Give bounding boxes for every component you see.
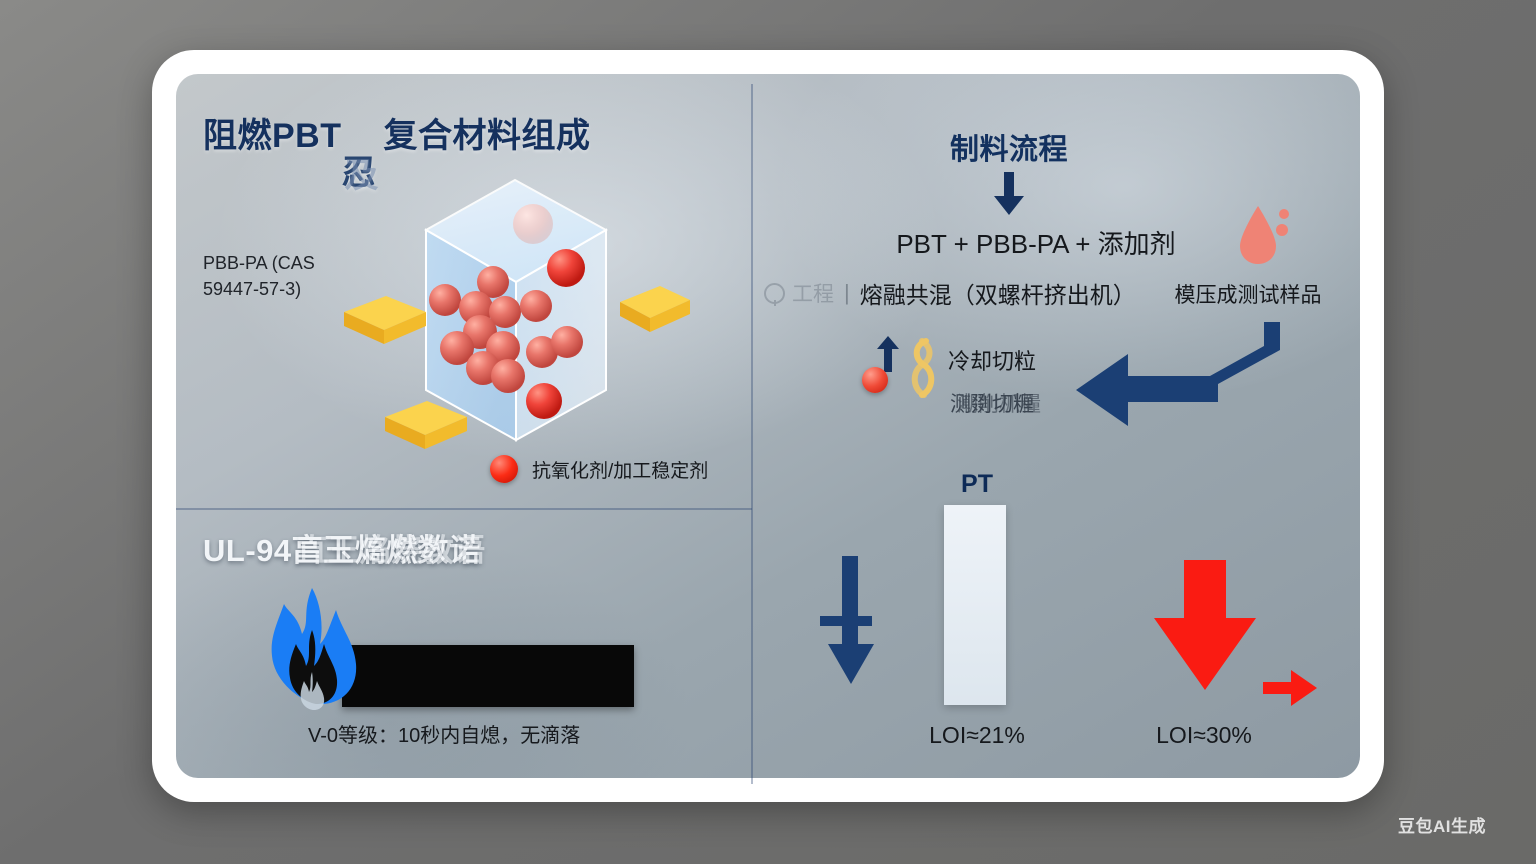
separator-glyph: | [844, 280, 850, 306]
helix-icon [908, 337, 938, 403]
ai-watermark: 豆包AI生成 [1398, 812, 1486, 837]
blue-flame-icon [250, 586, 380, 714]
ul94-title-prefix: UL-94 [203, 533, 292, 568]
cooling-glitch-layer-b: 潮削枛糧 [957, 388, 1041, 418]
infographic-canvas: 阻燃PBT忍及复合材料组成 PBB-PA (CAS 59447-57-3) [0, 0, 1536, 864]
droplet-dot-upper [1279, 209, 1289, 219]
right-panel-title: 制料流程 [950, 126, 1068, 168]
red-pellet-icon [862, 367, 888, 393]
vertical-divider [751, 84, 753, 784]
title-prefix-text: 阻燃PBT [203, 117, 342, 155]
cube-svg [330, 172, 690, 502]
magnifier-icon [764, 283, 785, 304]
navy-arrow-crossbar [820, 616, 872, 626]
ul94-glitch-layer-b: 直王焰烧教语 [297, 525, 486, 570]
droplet-icon [1232, 202, 1294, 273]
composite-cube-illustration [330, 172, 690, 502]
red-sphere-icon [490, 455, 518, 483]
melt-step-label: 熔融共混（双螺杆挤出机） [860, 276, 1136, 310]
cooling-step-glitch-label: 测剟切糎 潮削枛糧 [950, 388, 1034, 418]
ul94-title-glitch: 亯玉熇燃数诺直王焰烧教语 [292, 525, 481, 570]
horizontal-divider [176, 508, 752, 510]
loi-after-label: LOI≈30% [1156, 722, 1252, 749]
yellow-plate-right [620, 286, 690, 332]
navy-down-arrow-icon [820, 556, 882, 691]
formula-text: PBT + PBB-PA + 添加剂 [896, 224, 1175, 261]
flame-test-illustration [240, 586, 660, 714]
ghost-prefix-text: 工程 [792, 278, 834, 308]
antioxidant-legend: 抗氧化剂/加工稳定剂 [490, 455, 708, 483]
title-suffix-text: 复合材料组成 [384, 117, 591, 155]
mold-step-label: 模压成测试样品 [1175, 279, 1322, 309]
cooling-step-label: 冷却切粒 [948, 344, 1036, 376]
v0-rating-caption: V-0等级：10秒内自熄，无滴落 [308, 719, 580, 748]
outer-red-sphere-top [547, 249, 585, 287]
ghost-watermark-prefix: 工程 [764, 278, 834, 308]
pt-bar-label: PT [961, 470, 993, 499]
pale-sphere [513, 204, 553, 244]
red-right-arrow-icon [1263, 668, 1319, 713]
left-panel-title: 阻燃PBT忍及复合材料组成 [203, 108, 591, 157]
black-specimen-bar [342, 645, 634, 707]
yellow-plate-left-upper [344, 296, 426, 344]
outer-red-sphere-bottom [526, 383, 562, 419]
antioxidant-legend-label: 抗氧化剂/加工稳定剂 [532, 456, 708, 483]
loi-before-label: LOI≈21% [929, 722, 1025, 749]
droplet-dot-lower [1276, 224, 1288, 236]
melt-blend-step: 工程 | 熔融共混（双螺杆挤出机） [764, 276, 1136, 310]
arrow-down-icon [992, 172, 1026, 221]
red-down-arrow-icon [1152, 560, 1258, 697]
yellow-plate-left-lower [385, 401, 467, 449]
pt-bar [944, 505, 1006, 705]
bent-left-arrow-icon [1068, 322, 1280, 439]
ul94-section-title: UL-94亯玉熇燃数诺直王焰烧教语 [203, 525, 481, 570]
